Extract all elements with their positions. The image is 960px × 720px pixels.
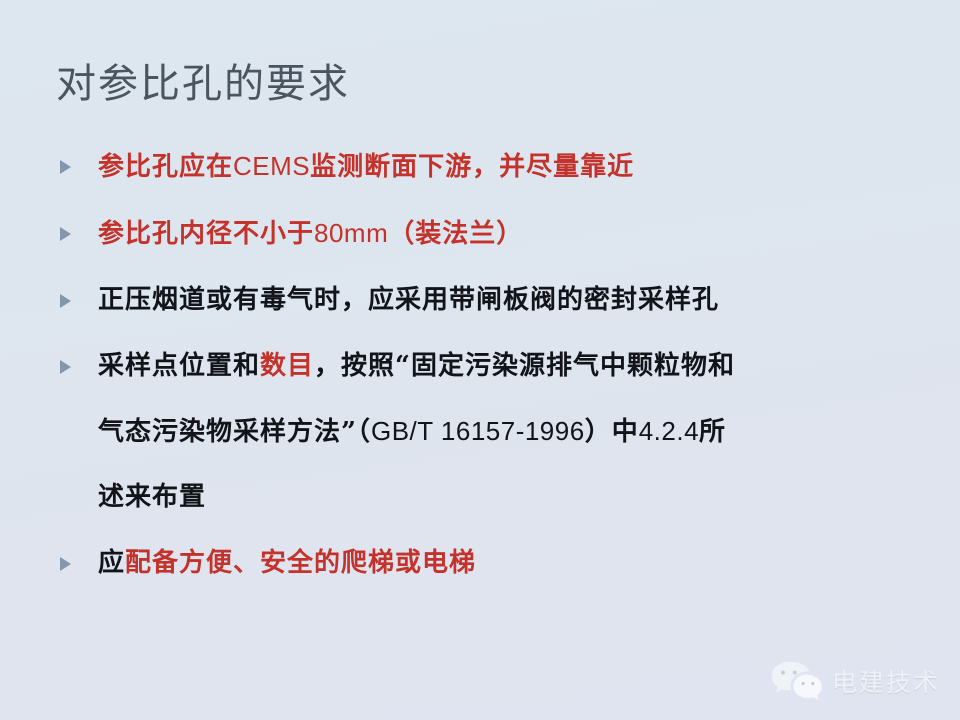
bullet-line: 正压烟道或有毒气时，应采用带闸板阀的密封采样孔	[98, 282, 932, 318]
slide-canvas: 对参比孔的要求 参比孔应在CEMS监测断面下游，并尽量靠近参比孔内径不小于80m…	[0, 0, 960, 720]
text-segment: 监测断面下游，并尽量靠近	[310, 152, 634, 182]
text-segment: 采样点位置和	[98, 351, 260, 381]
text-segment: 配备方便、安全的爬梯或电梯	[125, 548, 476, 578]
bullet-line: 参比孔内径不小于80mm（装法兰）	[98, 215, 932, 252]
text-segment: 气态污染物采样方法”（	[98, 417, 371, 447]
text-segment: ，按照“固定污染源排气中颗粒物和	[314, 351, 735, 381]
text-segment: （装法兰）	[388, 219, 523, 249]
text-segment: 数目	[260, 351, 314, 381]
bullet-item: 正压烟道或有毒气时，应采用带闸板阀的密封采样孔	[56, 282, 932, 318]
triangle-right-icon	[60, 360, 71, 374]
bullet-item: 应配备方便、安全的爬梯或电梯	[56, 545, 932, 581]
bullet-text: 应配备方便、安全的爬梯或电梯	[98, 545, 932, 581]
text-segment: ）中	[585, 417, 639, 447]
text-segment: 参比孔内径不小于	[98, 219, 314, 249]
bullet-text: 采样点位置和数目，按照“固定污染源排气中颗粒物和气态污染物采样方法”（GB/T …	[98, 348, 932, 515]
text-segment: 应	[98, 548, 125, 578]
page-title: 对参比孔的要求	[56, 60, 350, 108]
bullet-line: 气态污染物采样方法”（GB/T 16157-1996）中4.2.4所	[98, 413, 932, 450]
text-segment: 参比孔应在	[98, 152, 233, 182]
wechat-icon	[770, 660, 822, 702]
text-segment: 所	[699, 417, 726, 447]
bullet-text: 参比孔应在CEMS监测断面下游，并尽量靠近	[98, 148, 932, 185]
bullet-line: 采样点位置和数目，按照“固定污染源排气中颗粒物和	[98, 348, 932, 384]
bullet-item: 参比孔内径不小于80mm（装法兰）	[56, 215, 932, 252]
text-segment: GB/T 16157-1996	[371, 416, 585, 446]
bullet-item: 采样点位置和数目，按照“固定污染源排气中颗粒物和气态污染物采样方法”（GB/T …	[56, 348, 932, 515]
bullet-text: 正压烟道或有毒气时，应采用带闸板阀的密封采样孔	[98, 282, 932, 318]
text-segment: 4.2.4	[639, 416, 699, 446]
text-segment: 80mm	[314, 218, 388, 248]
text-segment: 述来布置	[98, 482, 206, 512]
bullet-line: 参比孔应在CEMS监测断面下游，并尽量靠近	[98, 148, 932, 185]
bullet-item: 参比孔应在CEMS监测断面下游，并尽量靠近	[56, 148, 932, 185]
watermark-label: 电建技术	[832, 663, 940, 699]
watermark: 电建技术	[770, 660, 940, 702]
text-segment: CEMS	[233, 151, 310, 181]
triangle-right-icon	[60, 557, 71, 571]
triangle-right-icon	[60, 294, 71, 308]
bullet-line: 述来布置	[98, 479, 932, 515]
bullet-list: 参比孔应在CEMS监测断面下游，并尽量靠近参比孔内径不小于80mm（装法兰）正压…	[56, 148, 932, 581]
bullet-text: 参比孔内径不小于80mm（装法兰）	[98, 215, 932, 252]
triangle-right-icon	[60, 160, 71, 174]
triangle-right-icon	[60, 227, 71, 241]
bullet-line: 应配备方便、安全的爬梯或电梯	[98, 545, 932, 581]
text-segment: 正压烟道或有毒气时，应采用带闸板阀的密封采样孔	[98, 285, 719, 315]
